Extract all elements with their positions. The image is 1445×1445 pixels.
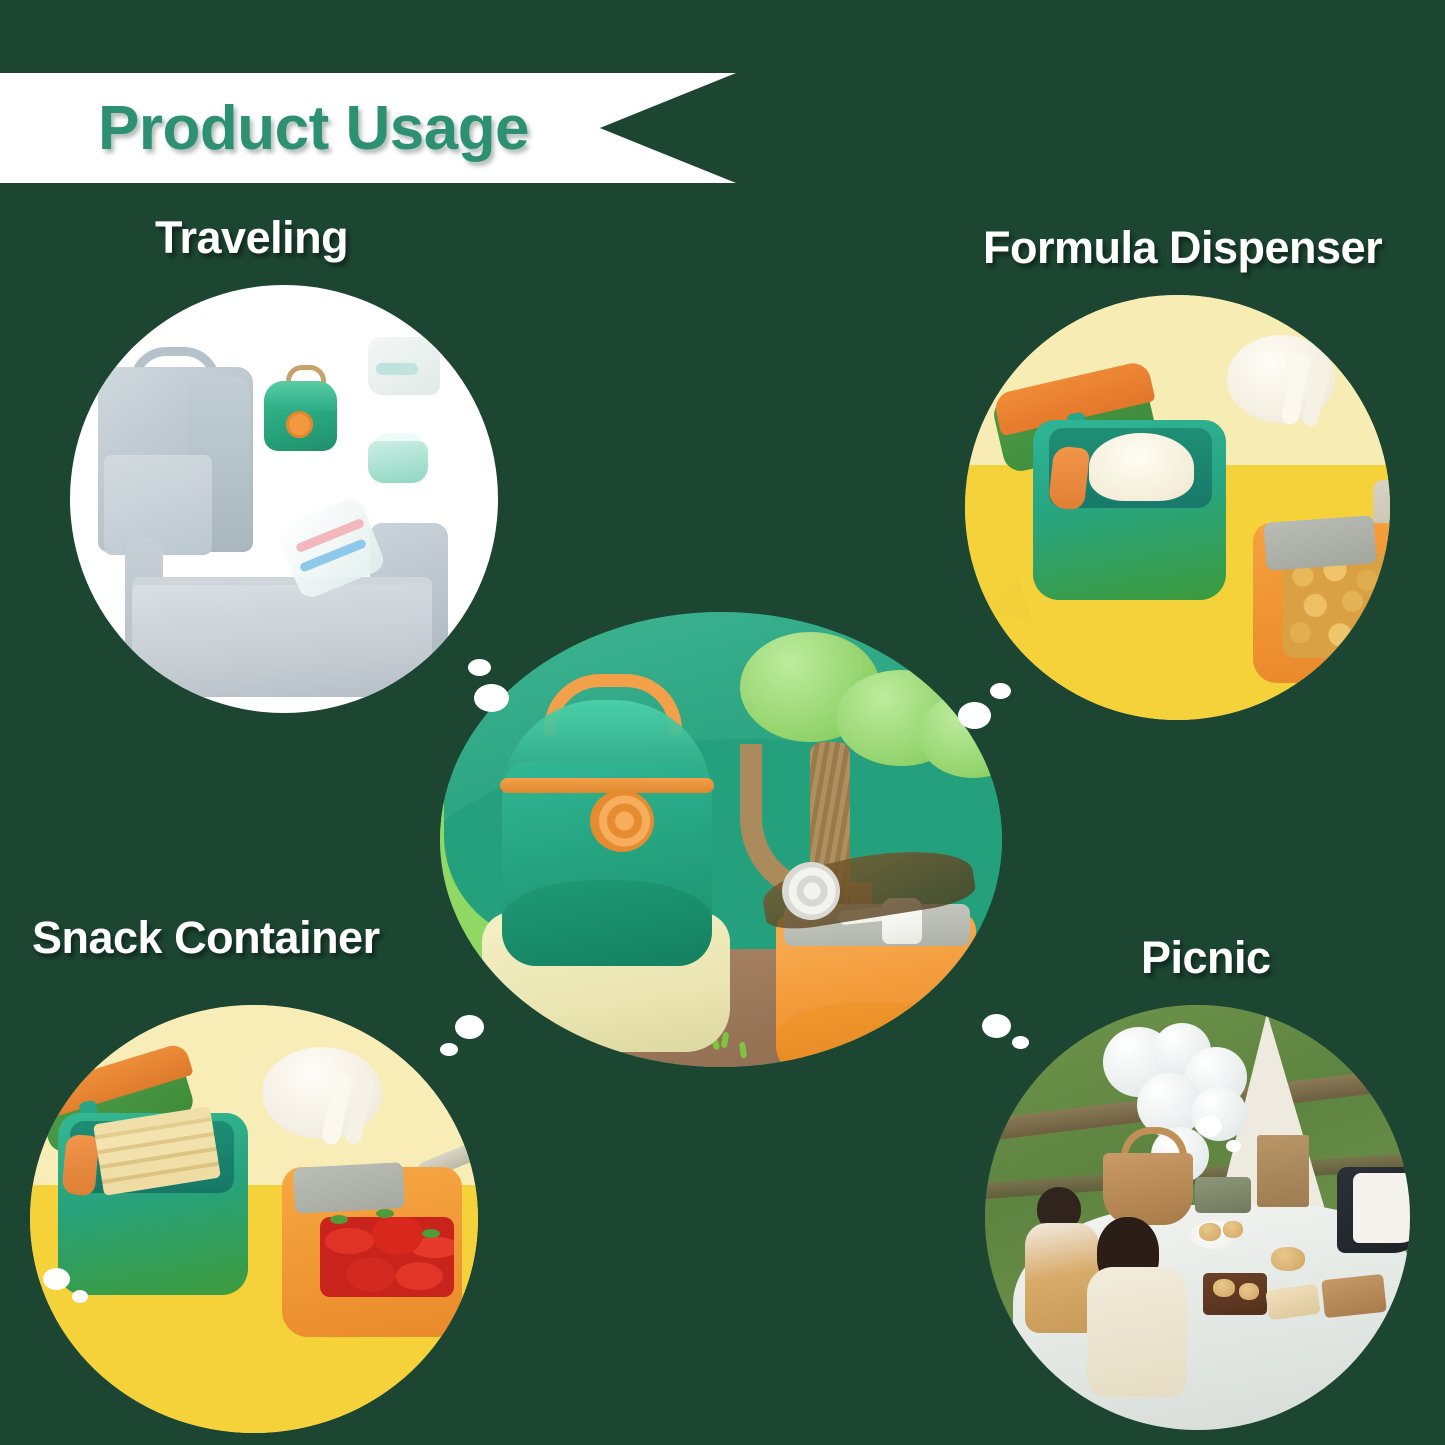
vintage-radio — [1195, 1177, 1251, 1213]
green-container-wave-base — [502, 880, 712, 966]
decorative-dot — [43, 1268, 70, 1290]
decorative-dot — [468, 659, 491, 676]
backpack-front-pocket — [104, 455, 212, 555]
pastry — [1213, 1279, 1235, 1297]
wipe-sheet — [376, 363, 418, 375]
milk-formula-powder — [1089, 433, 1194, 501]
decorative-dot — [72, 1290, 88, 1303]
photo-picnic — [985, 1005, 1410, 1430]
orange-container-flap — [293, 1162, 405, 1214]
croissant — [1271, 1247, 1305, 1271]
pastry — [1223, 1221, 1243, 1238]
section-label-snack-container: Snack Container — [32, 912, 380, 964]
decorative-dot — [982, 1014, 1011, 1038]
photo-snack-container — [30, 1005, 478, 1433]
nuts-contents — [1283, 553, 1390, 658]
orange-container-flap — [1263, 515, 1376, 571]
decorative-dot — [1196, 1116, 1222, 1137]
pastry — [1239, 1283, 1259, 1300]
cheese-board — [1321, 1274, 1387, 1318]
pastry — [1199, 1223, 1221, 1241]
child-girl-body — [1087, 1267, 1187, 1397]
polka-dot-cloth — [1353, 1173, 1410, 1243]
snail-emblem-icon — [286, 411, 313, 438]
infographic-page: Product Usage Traveling Formula Dispense… — [0, 0, 1445, 1445]
decorative-dot — [1226, 1140, 1241, 1152]
strawberry-leaf — [422, 1229, 440, 1238]
photo-formula-dispenser — [965, 295, 1390, 720]
foldable-bassinet — [132, 585, 432, 697]
header-banner: Product Usage — [0, 73, 736, 183]
section-label-formula-dispenser: Formula Dispenser — [983, 222, 1382, 274]
decorative-dot — [1012, 1036, 1029, 1049]
wicker-picnic-basket — [1103, 1153, 1193, 1225]
soap-dish — [368, 441, 428, 483]
strawberry-leaf — [330, 1215, 348, 1224]
section-label-picnic: Picnic — [1141, 932, 1271, 984]
orange-scoop — [61, 1134, 99, 1197]
page-title: Product Usage — [98, 93, 529, 164]
orange-rim-band — [500, 778, 714, 793]
decorative-dot — [958, 702, 991, 729]
strawberry-leaf — [376, 1209, 394, 1218]
hero-product-image — [440, 612, 1002, 1067]
white-snail-emblem-icon — [782, 862, 840, 920]
photo-traveling — [70, 285, 498, 713]
paper-grocery-bag — [1257, 1135, 1309, 1207]
snail-emblem-icon — [590, 790, 654, 852]
orange-container-wave-base — [776, 1002, 976, 1067]
decorative-dot — [440, 1043, 458, 1056]
orange-formula-scoop — [1048, 445, 1090, 510]
section-label-traveling: Traveling — [155, 212, 348, 264]
decorative-dot — [474, 684, 509, 712]
green-container-lid — [264, 381, 337, 411]
decorative-dot — [455, 1015, 484, 1039]
decorative-dot — [990, 683, 1011, 699]
